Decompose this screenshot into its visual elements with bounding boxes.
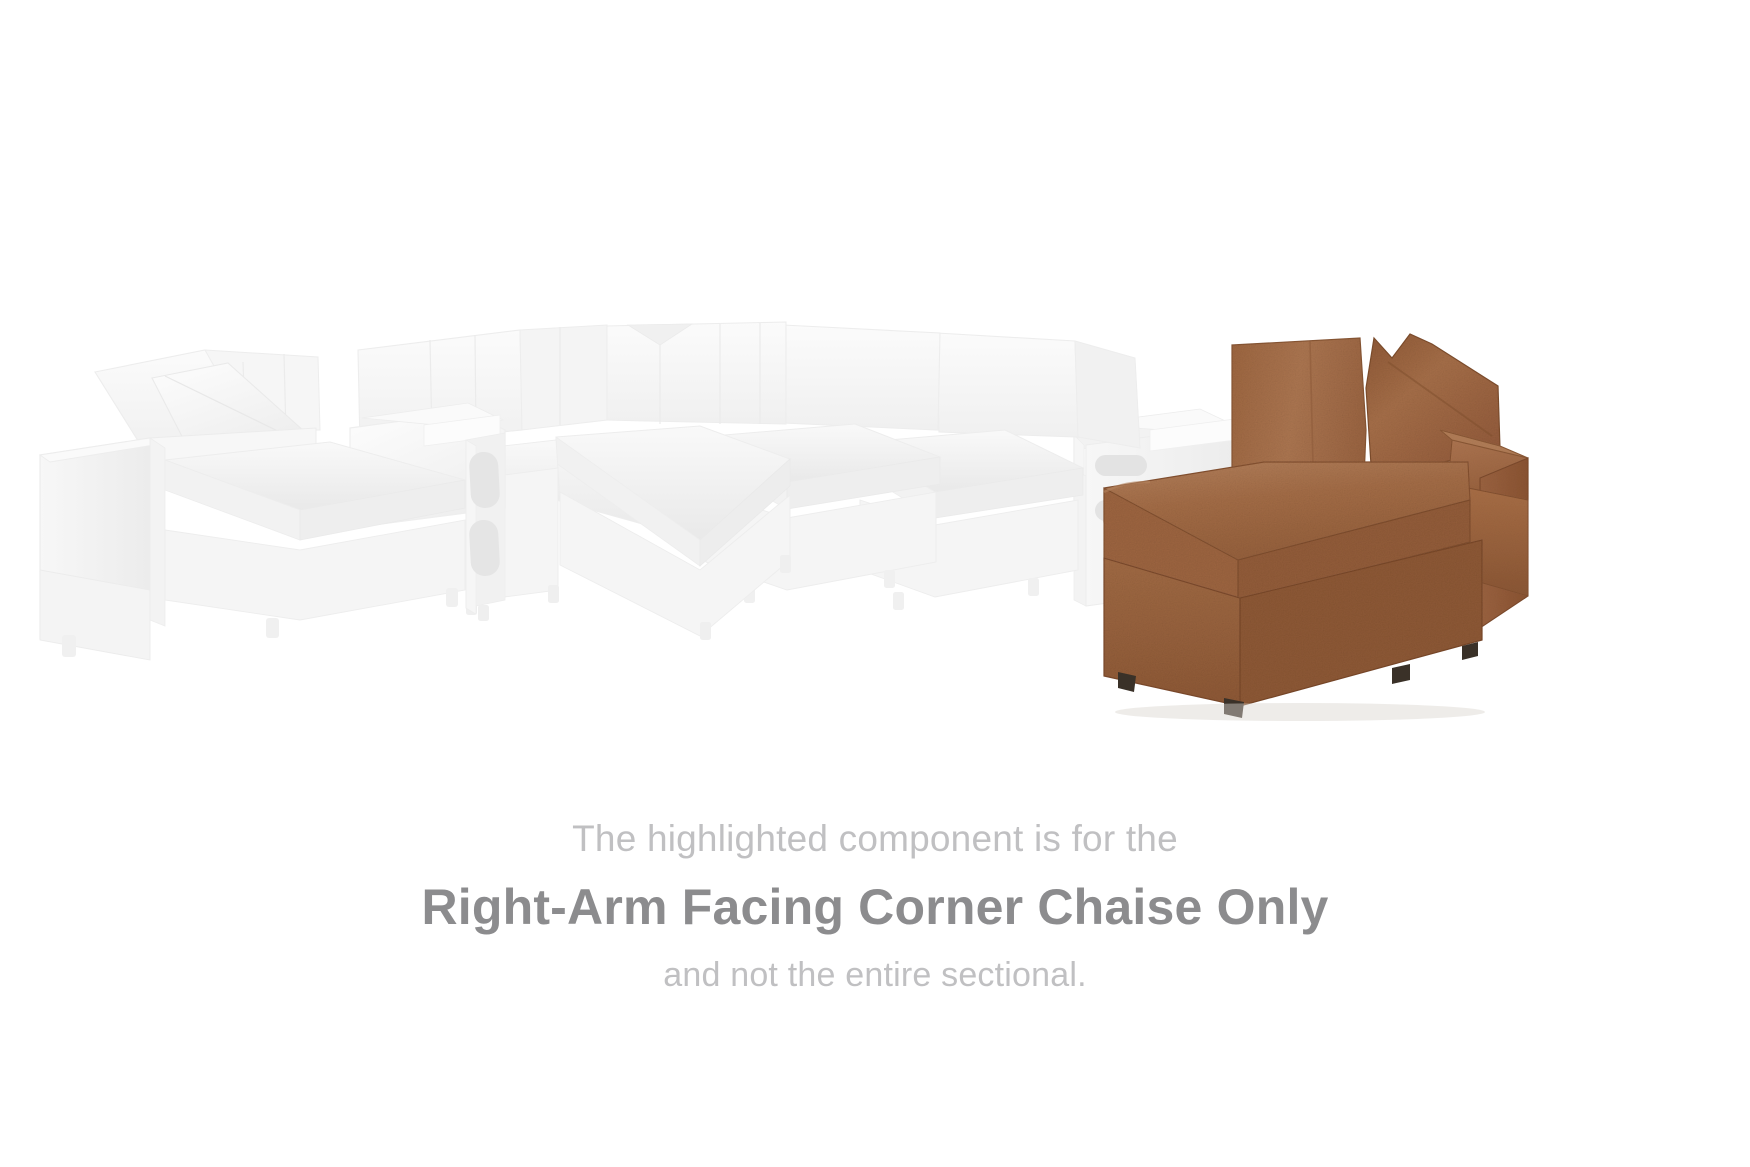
- caption-block: The highlighted component is for the Rig…: [0, 815, 1750, 998]
- caption-component-name: Right-Arm Facing Corner Chaise Only: [0, 875, 1750, 940]
- sectional-illustration-svg: [0, 0, 1750, 800]
- caption-line-prefix: The highlighted component is for the: [0, 815, 1750, 862]
- screenshot-root: The highlighted component is for the Rig…: [0, 0, 1750, 1167]
- caption-line-suffix: and not the entire sectional.: [0, 954, 1750, 998]
- chaise-contact-shadow: [1115, 703, 1485, 721]
- chaise-leg-back-right: [1392, 664, 1410, 684]
- ghosted-sectional-group: [40, 322, 1238, 660]
- module-right-arm-facing-corner-chaise: [1104, 334, 1528, 721]
- product-illustration: [0, 0, 1750, 800]
